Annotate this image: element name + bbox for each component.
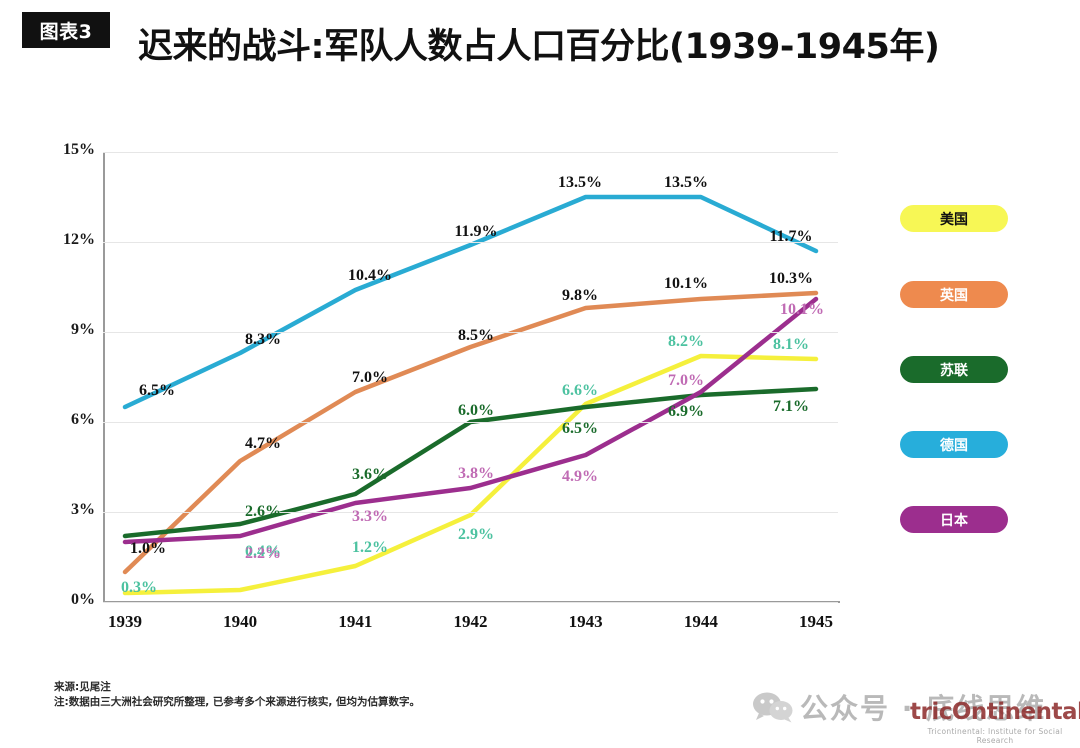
legend-item-德国[interactable]: 德国 bbox=[900, 431, 1008, 458]
legend-item-美国[interactable]: 美国 bbox=[900, 205, 1008, 232]
data-label: 8.3% bbox=[245, 331, 281, 349]
data-label: 1.0% bbox=[130, 540, 166, 558]
chart-container: 0%3%6%9%12%15% 1939194019411942194319441… bbox=[0, 0, 1080, 748]
y-axis-tick: 6% bbox=[47, 411, 95, 429]
data-label: 13.5% bbox=[558, 174, 602, 192]
x-axis-tick: 1939 bbox=[80, 612, 170, 632]
data-label: 9.8% bbox=[562, 287, 598, 305]
data-label: 4.9% bbox=[562, 468, 598, 486]
data-label: 11.7% bbox=[769, 228, 812, 246]
legend-item-日本[interactable]: 日本 bbox=[900, 506, 1008, 533]
y-axis-tick: 15% bbox=[47, 141, 95, 159]
data-label: 2.6% bbox=[245, 503, 281, 521]
data-label: 3.3% bbox=[352, 508, 388, 526]
data-label: 6.9% bbox=[668, 403, 704, 421]
data-label: 2.9% bbox=[458, 526, 494, 544]
data-label: 10.4% bbox=[348, 267, 392, 285]
data-label: 8.1% bbox=[773, 336, 809, 354]
watermark-tagline: Tricontinental: Institute for Social Res… bbox=[910, 727, 1080, 745]
y-axis-tick: 9% bbox=[47, 321, 95, 339]
data-label: 13.5% bbox=[664, 174, 708, 192]
data-label: 10.1% bbox=[780, 301, 824, 319]
gridline bbox=[103, 242, 838, 243]
data-label: 6.5% bbox=[139, 382, 175, 400]
note-line: 注:数据由三大洲社会研究所整理, 已参考多个来源进行核实, 但均为估算数字。 bbox=[54, 695, 420, 710]
source-note: 来源:见尾注 注:数据由三大洲社会研究所整理, 已参考多个来源进行核实, 但均为… bbox=[54, 680, 420, 710]
data-label: 7.0% bbox=[668, 372, 704, 390]
data-label: 10.1% bbox=[664, 275, 708, 293]
y-axis-tick: 3% bbox=[47, 501, 95, 519]
data-label: 7.1% bbox=[773, 398, 809, 416]
data-label: 11.9% bbox=[454, 223, 497, 241]
data-label: 7.0% bbox=[352, 369, 388, 387]
x-axis-tick: 1942 bbox=[426, 612, 516, 632]
brand-footer: 公众号 · 底线思维 tricOntinental Tricontinental… bbox=[752, 683, 1072, 731]
x-axis-tick: 1945 bbox=[771, 612, 861, 632]
x-axis-tick: 1943 bbox=[541, 612, 631, 632]
y-axis-tick-labels: 0%3%6%9%12%15% bbox=[40, 152, 95, 602]
x-axis-tick: 1940 bbox=[195, 612, 285, 632]
data-label: 8.2% bbox=[668, 333, 704, 351]
legend-item-苏联[interactable]: 苏联 bbox=[900, 356, 1008, 383]
data-label: 4.7% bbox=[245, 435, 281, 453]
data-label: 10.3% bbox=[769, 270, 813, 288]
watermark-wordmark: tricOntinental bbox=[910, 701, 1080, 724]
legend-item-英国[interactable]: 英国 bbox=[900, 281, 1008, 308]
y-axis-tick: 12% bbox=[47, 231, 95, 249]
source-line: 来源:见尾注 bbox=[54, 680, 420, 695]
wechat-icon bbox=[752, 691, 794, 728]
data-label: 3.6% bbox=[352, 466, 388, 484]
tricontinental-watermark: tricOntinental Tricontinental: Institute… bbox=[910, 701, 1080, 745]
y-axis-tick: 0% bbox=[47, 591, 95, 609]
data-label: 6.0% bbox=[458, 402, 494, 420]
data-label: 1.2% bbox=[352, 539, 388, 557]
gridline bbox=[103, 602, 838, 603]
gridline bbox=[103, 152, 838, 153]
data-label: 6.6% bbox=[562, 382, 598, 400]
gridline bbox=[103, 512, 838, 513]
x-axis-tick: 1941 bbox=[310, 612, 400, 632]
data-label: 6.5% bbox=[562, 420, 598, 438]
data-label: 0.3% bbox=[121, 579, 157, 597]
data-label: 3.8% bbox=[458, 465, 494, 483]
data-label: 8.5% bbox=[458, 327, 494, 345]
x-axis-tick: 1944 bbox=[656, 612, 746, 632]
data-label: 2.2% bbox=[245, 545, 281, 563]
gridline bbox=[103, 422, 838, 423]
